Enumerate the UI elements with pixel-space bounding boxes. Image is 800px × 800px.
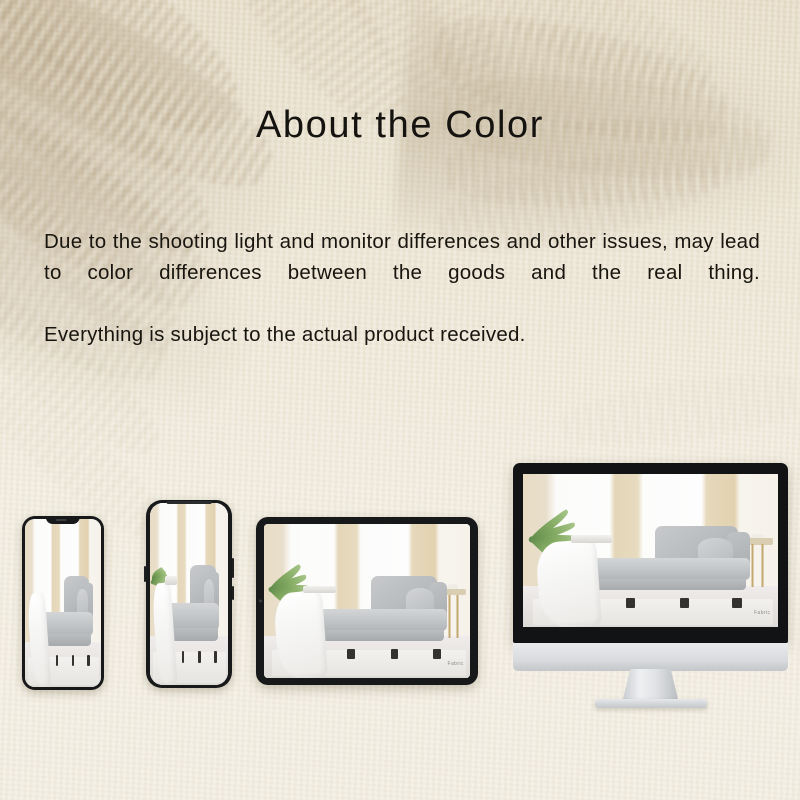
scene-throw-blanket	[535, 539, 602, 627]
phone-volume-button[interactable]	[232, 558, 234, 578]
scene-tray	[303, 586, 336, 594]
device-phone-curved	[146, 500, 232, 688]
product-scene	[150, 503, 228, 685]
sofa-leg	[626, 598, 635, 608]
phone-assistant-button[interactable]	[144, 566, 146, 582]
scene-tray	[571, 535, 612, 543]
tablet-camera-icon	[259, 600, 262, 603]
sofa-leg	[732, 598, 741, 608]
scene-watermark: Fabric	[754, 610, 770, 616]
device-tablet: Fabric	[256, 517, 478, 685]
product-scene: Fabric	[523, 474, 778, 627]
scene-tray	[165, 576, 177, 585]
scene-watermark: Fabric	[448, 661, 464, 667]
device-phone-notch	[22, 516, 104, 690]
side-table-legs	[748, 544, 768, 587]
product-scene: Fabric	[264, 524, 470, 678]
monitor-bezel: Fabric	[513, 463, 788, 643]
monitor-stand-neck	[623, 669, 679, 701]
sofa-leg	[182, 651, 185, 663]
device-monitor: Fabric	[513, 463, 788, 693]
phone-one-screen	[25, 519, 101, 687]
phone-speaker-grille-icon	[167, 501, 212, 504]
phone-notch-icon	[46, 516, 80, 524]
side-table-legs	[446, 595, 462, 638]
monitor-chin	[513, 643, 788, 671]
phone-power-button[interactable]	[232, 586, 234, 600]
sofa-leg	[391, 649, 399, 659]
phone-two-screen	[150, 503, 228, 685]
device-mockup-row: Fabric	[0, 0, 800, 800]
monitor-stand-base	[595, 699, 707, 708]
sofa-leg	[433, 649, 441, 659]
sofa-leg	[198, 651, 201, 663]
sofa-leg	[680, 598, 689, 608]
sofa-leg	[347, 649, 355, 659]
monitor-screen: Fabric	[523, 474, 778, 627]
product-scene	[25, 519, 101, 687]
about-the-color-page: About the Color Due to the shooting ligh…	[0, 0, 800, 800]
scene-throw-blanket	[273, 590, 328, 678]
sofa-leg	[214, 651, 217, 663]
tablet-screen: Fabric	[264, 524, 470, 678]
sofa-leg	[87, 655, 90, 666]
